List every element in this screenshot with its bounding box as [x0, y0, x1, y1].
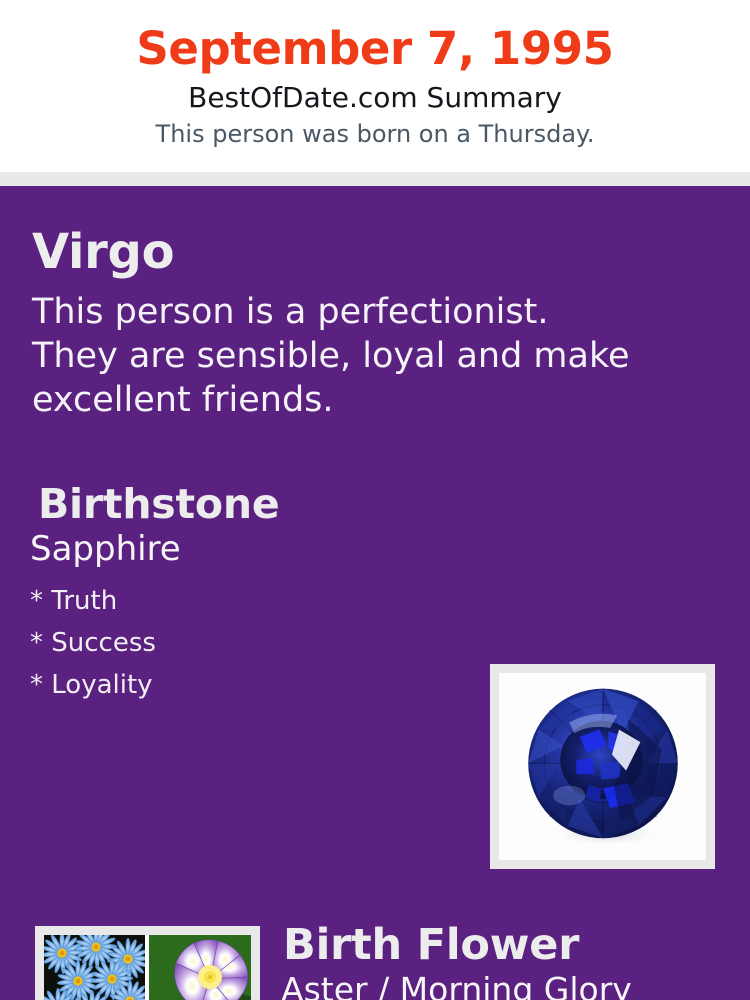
birthstone-heading: Birthstone: [30, 482, 470, 528]
zodiac-description: This person is a perfectionist. They are…: [32, 290, 637, 422]
birthstone-image-frame: [490, 664, 715, 869]
sapphire-gem-icon: [499, 673, 706, 860]
birth-flower-name: Aster / Morning Glory: [275, 970, 735, 1000]
birthstone-image: [499, 673, 706, 860]
birthstone-name: Sapphire: [30, 529, 470, 570]
morning-glory-photo-half: [149, 935, 251, 1000]
list-item: * Loyality: [30, 664, 470, 706]
born-day-text: This person was born on a Thursday.: [0, 119, 750, 150]
sapphire-gem-svg: [514, 678, 692, 856]
zodiac-section: Virgo This person is a perfectionist. Th…: [32, 226, 672, 422]
birthday-summary-card: September 7, 1995 BestOfDate.com Summary…: [0, 0, 750, 1000]
zodiac-sign-name: Virgo: [32, 226, 672, 280]
aster-morning-glory-svg: [44, 935, 251, 1000]
card-header: September 7, 1995 BestOfDate.com Summary…: [0, 0, 750, 172]
birth-flower-section: Birth Flower Aster / Morning Glory * Lov…: [275, 921, 735, 1000]
summary-panel: Virgo This person is a perfectionist. Th…: [0, 186, 750, 1000]
birthstone-trait-list: * Truth * Success * Loyality: [30, 580, 470, 706]
aster-photo-half: [44, 935, 161, 1000]
birth-flower-image-frame: [35, 926, 260, 1000]
birth-flower-image: [44, 935, 251, 1000]
header-divider: [0, 172, 750, 186]
site-summary-label: BestOfDate.com Summary: [0, 79, 750, 117]
birthstone-section: Birthstone Sapphire * Truth * Success * …: [30, 482, 470, 706]
birth-flower-heading: Birth Flower: [275, 921, 735, 969]
list-item: * Truth: [30, 580, 470, 622]
list-item: * Success: [30, 622, 470, 664]
page-title: September 7, 1995: [0, 22, 750, 75]
